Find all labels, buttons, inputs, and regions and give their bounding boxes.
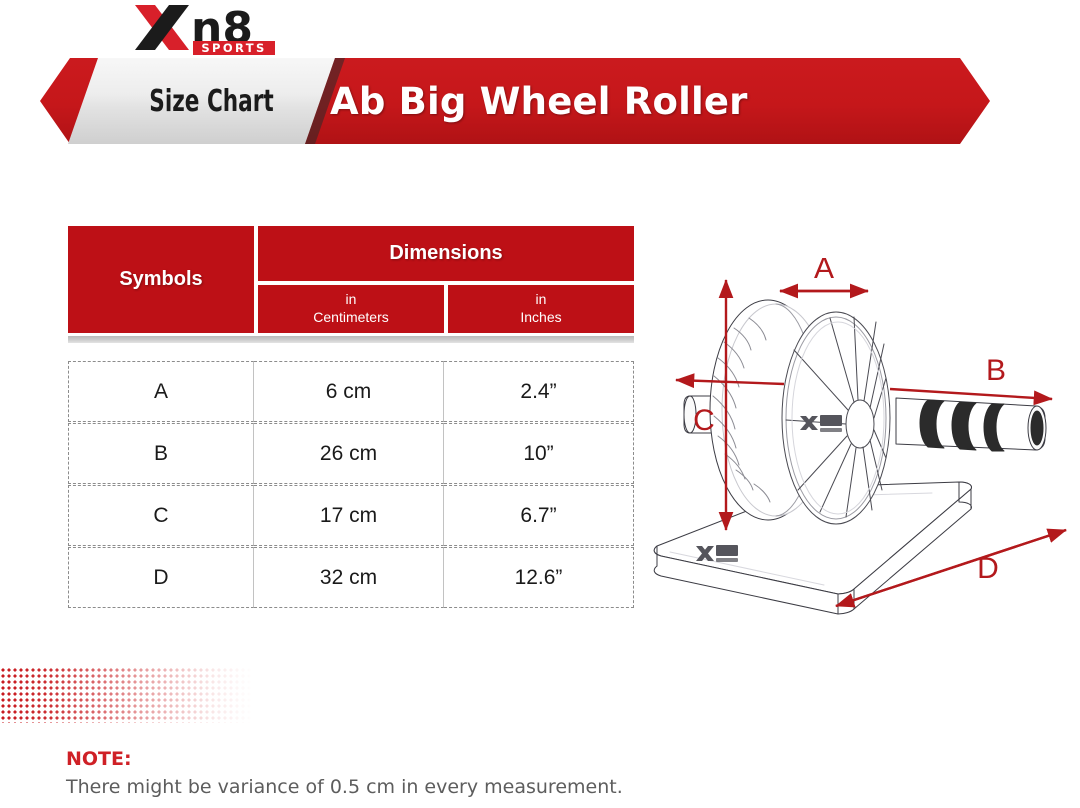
dimension-label-d: D (977, 552, 999, 585)
table-row: C 17 cm 6.7” (68, 485, 634, 546)
table-body: A 6 cm 2.4” B 26 cm 10” C 17 cm 6.7” D 3… (68, 361, 634, 608)
cell-centimeters: 17 cm (254, 485, 444, 546)
table-header-dimensions: Dimensions (258, 226, 634, 281)
logo-x-icon (135, 5, 189, 50)
cell-inches: 6.7” (444, 485, 634, 546)
brand-logo: n8 SPORTS (133, 3, 293, 58)
mat-logo-xn8 (696, 545, 738, 562)
cell-symbol: D (68, 547, 254, 608)
handle-right (896, 398, 1046, 451)
note-text: There might be variance of 0.5 cm in eve… (66, 776, 623, 798)
dimension-label-a: A (814, 258, 834, 285)
note-label: NOTE: (66, 748, 132, 770)
dimension-label-c: C (693, 404, 715, 437)
unit-in-prefix: in (536, 291, 547, 309)
size-chart-table: Symbols Dimensions in Centimeters in Inc… (68, 226, 634, 609)
table-header-symbols: Symbols (68, 226, 254, 333)
logo-sports-text: SPORTS (201, 41, 266, 55)
table-row: B 26 cm 10” (68, 423, 634, 484)
table-row: A 6 cm 2.4” (68, 361, 634, 422)
unit-cm-prefix: in (346, 291, 357, 309)
product-illustration: A B C D (648, 258, 1080, 622)
cell-inches: 10” (444, 423, 634, 484)
cell-inches: 2.4” (444, 361, 634, 422)
cell-centimeters: 26 cm (254, 423, 444, 484)
table-row: D 32 cm 12.6” (68, 547, 634, 608)
banner-badge-label: Size Chart (142, 70, 282, 132)
cell-symbol: B (68, 423, 254, 484)
table-header-shadow-bar (68, 336, 634, 343)
cell-inches: 12.6” (444, 547, 634, 608)
dimension-label-b: B (986, 354, 1006, 387)
halftone-decoration (0, 667, 252, 723)
unit-cm-name: Centimeters (313, 309, 388, 327)
page-title: Ab Big Wheel Roller (330, 58, 890, 144)
table-header-centimeters: in Centimeters (258, 285, 444, 333)
table-header-dimensions-group: Dimensions in Centimeters in Inches (258, 226, 634, 333)
cell-symbol: C (68, 485, 254, 546)
arrow-b-line (890, 389, 1052, 399)
cell-centimeters: 32 cm (254, 547, 444, 608)
cell-symbol: A (68, 361, 254, 422)
table-header-inches: in Inches (448, 285, 634, 333)
table-header-units: in Centimeters in Inches (258, 285, 634, 333)
table-header: Symbols Dimensions in Centimeters in Inc… (68, 226, 634, 333)
cell-centimeters: 6 cm (254, 361, 444, 422)
wheel-logo-xn8 (800, 415, 842, 432)
unit-in-name: Inches (520, 309, 561, 327)
